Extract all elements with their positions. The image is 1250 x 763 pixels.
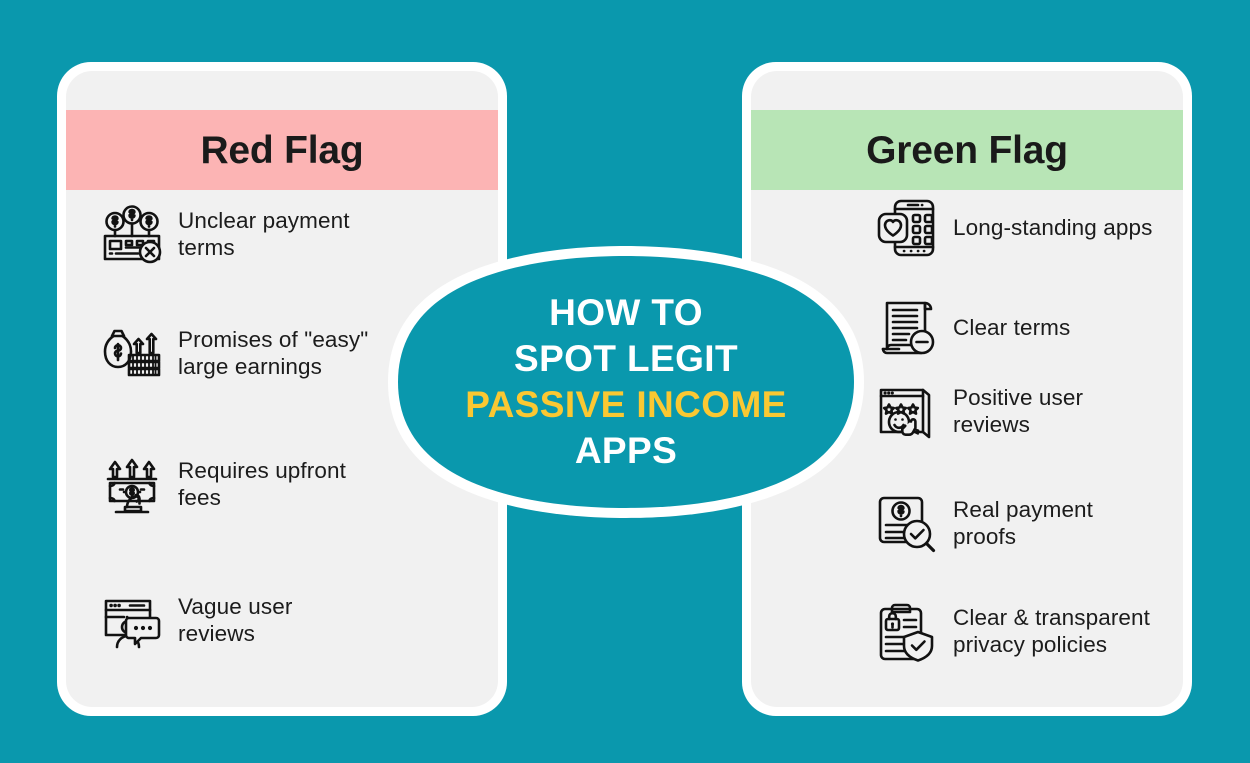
list-item-label: Clear terms	[953, 315, 1070, 342]
list-item: Positive user reviews	[875, 380, 1183, 444]
cash-hand-fees-icon	[100, 453, 164, 517]
list-item: Real payment proofs	[875, 492, 1183, 556]
badge-line-3-highlight: PASSIVE INCOME	[465, 382, 787, 428]
coins-invoice-error-icon	[100, 203, 164, 267]
list-item-label: Real payment proofs	[953, 497, 1093, 550]
browser-chat-user-icon	[100, 589, 164, 653]
badge-line-2: SPOT LEGIT	[514, 336, 738, 382]
list-item: Clear terms	[875, 296, 1183, 360]
list-item-label: Vague user reviews	[178, 594, 292, 647]
infographic-canvas: Red Flag	[0, 0, 1250, 763]
list-item: Vague user reviews	[100, 589, 480, 653]
badge-line-4: APPS	[575, 428, 677, 474]
badge-line-1: HOW TO	[549, 290, 703, 336]
red-flag-title: Red Flag	[200, 131, 363, 170]
center-badge-text: HOW TO SPOT LEGIT PASSIVE INCOME APPS	[398, 256, 854, 508]
document-dollar-magnifier-icon	[875, 492, 939, 556]
document-scroll-icon	[875, 296, 939, 360]
list-item: Long-standing apps	[875, 196, 1183, 260]
list-item-label: Requires upfront fees	[178, 458, 346, 511]
list-item-label: Clear & transparent privacy policies	[953, 605, 1150, 658]
clipboard-lock-shield-icon	[875, 600, 939, 664]
list-item-label: Positive user reviews	[953, 385, 1083, 438]
browser-stars-smiley-icon	[875, 380, 939, 444]
list-item: Clear & transparent privacy policies	[875, 600, 1183, 664]
money-bag-growth-icon	[100, 322, 164, 386]
green-flag-header-band: Green Flag	[751, 110, 1183, 190]
phone-heart-app-icon	[875, 196, 939, 260]
list-item-label: Long-standing apps	[953, 215, 1152, 242]
list-item-label: Unclear payment terms	[178, 208, 350, 261]
red-flag-header-band: Red Flag	[66, 110, 498, 190]
list-item-label: Promises of "easy" large earnings	[178, 327, 368, 380]
green-flag-title: Green Flag	[866, 131, 1068, 170]
